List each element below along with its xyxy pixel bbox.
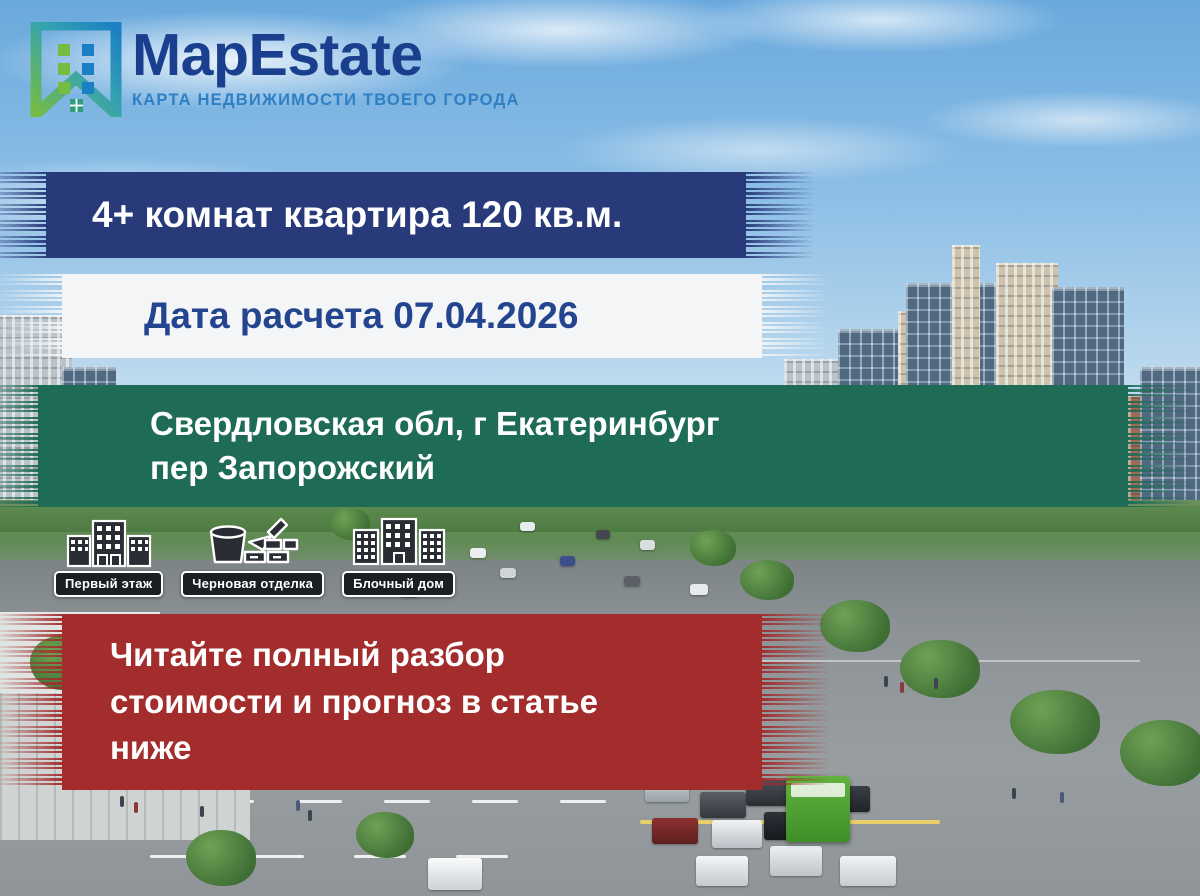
block-apartment-buildings-icon xyxy=(351,516,447,568)
brand-name: MapEstate xyxy=(132,26,520,85)
brand-logo[interactable]: MapEstate КАРТА НЕДВИЖИМОСТИ ТВОЕГО ГОРО… xyxy=(30,22,520,117)
brush-fray-right xyxy=(1126,385,1196,507)
paint-bucket-trowel-bricks-icon xyxy=(205,516,301,568)
rooms-area-text: 4+ комнат квартира 120 кв.м. xyxy=(92,194,746,236)
address-banner: Свердловская обл, г Екатеринбург пер Зап… xyxy=(38,385,1128,507)
badge-block-house: Блочный дом xyxy=(342,516,455,597)
cta-line-3: ниже xyxy=(110,725,762,772)
brush-fray-left xyxy=(0,172,48,258)
badge-first-floor: Первый этаж xyxy=(54,516,163,597)
brand-name-part2: Estate xyxy=(249,22,423,88)
brush-fray-left xyxy=(0,385,40,507)
brush-fray-right xyxy=(744,172,814,258)
badge-label: Черновая отделка xyxy=(181,571,324,597)
bookmark-building-icon xyxy=(30,22,122,117)
call-to-action-banner: Читайте полный разбор стоимости и прогно… xyxy=(62,614,762,790)
badge-rough-finish: Черновая отделка xyxy=(181,516,324,597)
calculation-date-text: Дата расчета 07.04.2026 xyxy=(144,295,762,337)
brush-fray-left xyxy=(0,614,64,790)
badge-label: Блочный дом xyxy=(342,571,455,597)
cta-line-1: Читайте полный разбор xyxy=(110,632,762,679)
address-line-1: Свердловская обл, г Екатеринбург xyxy=(150,402,1128,446)
brand-name-part1: Map xyxy=(132,22,249,88)
brush-fray-right xyxy=(760,274,830,358)
feature-badges: Первый этаж xyxy=(54,516,455,597)
building-facade-icon xyxy=(66,516,152,568)
calculation-date-banner: Дата расчета 07.04.2026 xyxy=(62,274,762,358)
cta-line-2: стоимости и прогноз в статье xyxy=(110,679,762,726)
brush-fray-right xyxy=(760,614,830,790)
brand-tagline: КАРТА НЕДВИЖИМОСТИ ТВОЕГО ГОРОДА xyxy=(132,92,520,109)
brush-fray-left xyxy=(0,274,64,358)
rooms-area-banner: 4+ комнат квартира 120 кв.м. xyxy=(46,172,746,258)
badge-label: Первый этаж xyxy=(54,571,163,597)
promo-poster: MapEstate КАРТА НЕДВИЖИМОСТИ ТВОЕГО ГОРО… xyxy=(0,0,1200,896)
address-line-2: пер Запорожский xyxy=(150,446,1128,490)
